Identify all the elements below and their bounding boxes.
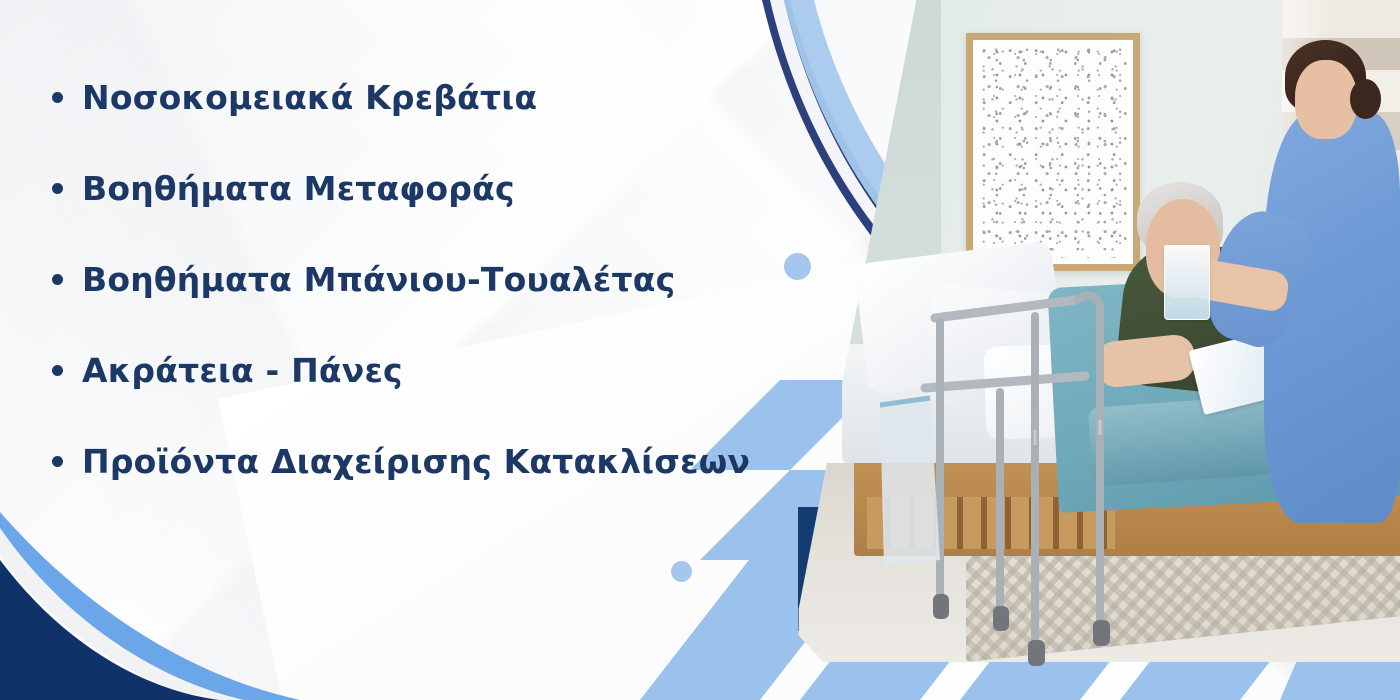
list-item[interactable]: Βοηθήματα Μεταφοράς [52,143,912,234]
promo-banner: Νοσοκομειακά Κρεβάτια Βοηθήματα Μεταφορά… [0,0,1400,700]
services-list: Νοσοκομειακά Κρεβάτια Βοηθήματα Μεταφορά… [52,52,912,507]
list-item[interactable]: Ακράτεια - Πάνες [52,325,912,416]
bullet-icon [52,183,63,194]
list-item[interactable]: Προϊόντα Διαχείρισης Κατακλίσεων [52,416,912,507]
list-item-label: Νοσοκομειακά Κρεβάτια [82,78,537,117]
list-item[interactable]: Βοηθήματα Μπάνιου-Τουαλέτας [52,234,912,325]
list-item[interactable]: Νοσοκομειακά Κρεβάτια [52,52,912,143]
list-item-label: Βοηθήματα Μεταφοράς [82,169,515,208]
list-item-label: Προϊόντα Διαχείρισης Κατακλίσεων [82,442,750,481]
accent-dot-small [671,561,692,582]
bullet-icon [52,274,63,285]
accent-dot-large [784,253,811,280]
bullet-icon [52,456,63,467]
list-item-label: Βοηθήματα Μπάνιου-Τουαλέτας [82,260,675,299]
list-item-label: Ακράτεια - Πάνες [82,351,403,390]
bullet-icon [52,365,63,376]
bullet-icon [52,92,63,103]
